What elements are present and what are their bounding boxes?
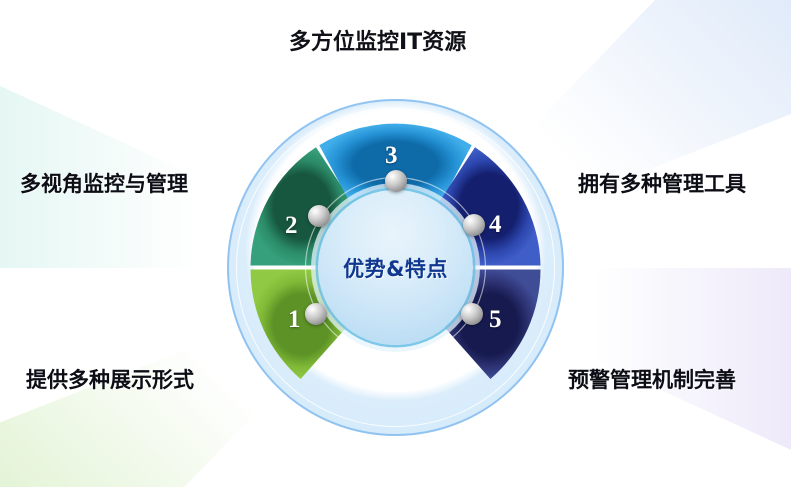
segment-number-2: 2 — [285, 213, 298, 238]
segment-marker-1[interactable] — [305, 303, 327, 325]
center-disc: 优势&特点 — [318, 190, 473, 345]
diagram-canvas: 优势&特点 1 2 3 4 5 多方位监控IT资源 多视角监控与管理 提供多种展… — [0, 0, 791, 487]
caption-left-bottom: 提供多种展示形式 — [26, 364, 194, 394]
caption-right-bottom: 预警管理机制完善 — [568, 364, 736, 394]
caption-left-top: 多视角监控与管理 — [20, 168, 188, 198]
segment-number-1: 1 — [288, 307, 301, 332]
caption-top: 多方位监控IT资源 — [289, 24, 466, 56]
segment-marker-4[interactable] — [463, 214, 485, 236]
center-label: 优势&特点 — [343, 253, 448, 283]
caption-right-top: 拥有多种管理工具 — [578, 168, 746, 198]
segment-marker-5[interactable] — [461, 303, 483, 325]
segment-number-5: 5 — [489, 307, 502, 332]
segment-number-4: 4 — [489, 212, 502, 237]
segment-marker-2[interactable] — [308, 205, 330, 227]
segment-number-3: 3 — [385, 143, 398, 168]
segment-marker-3[interactable] — [385, 170, 407, 192]
